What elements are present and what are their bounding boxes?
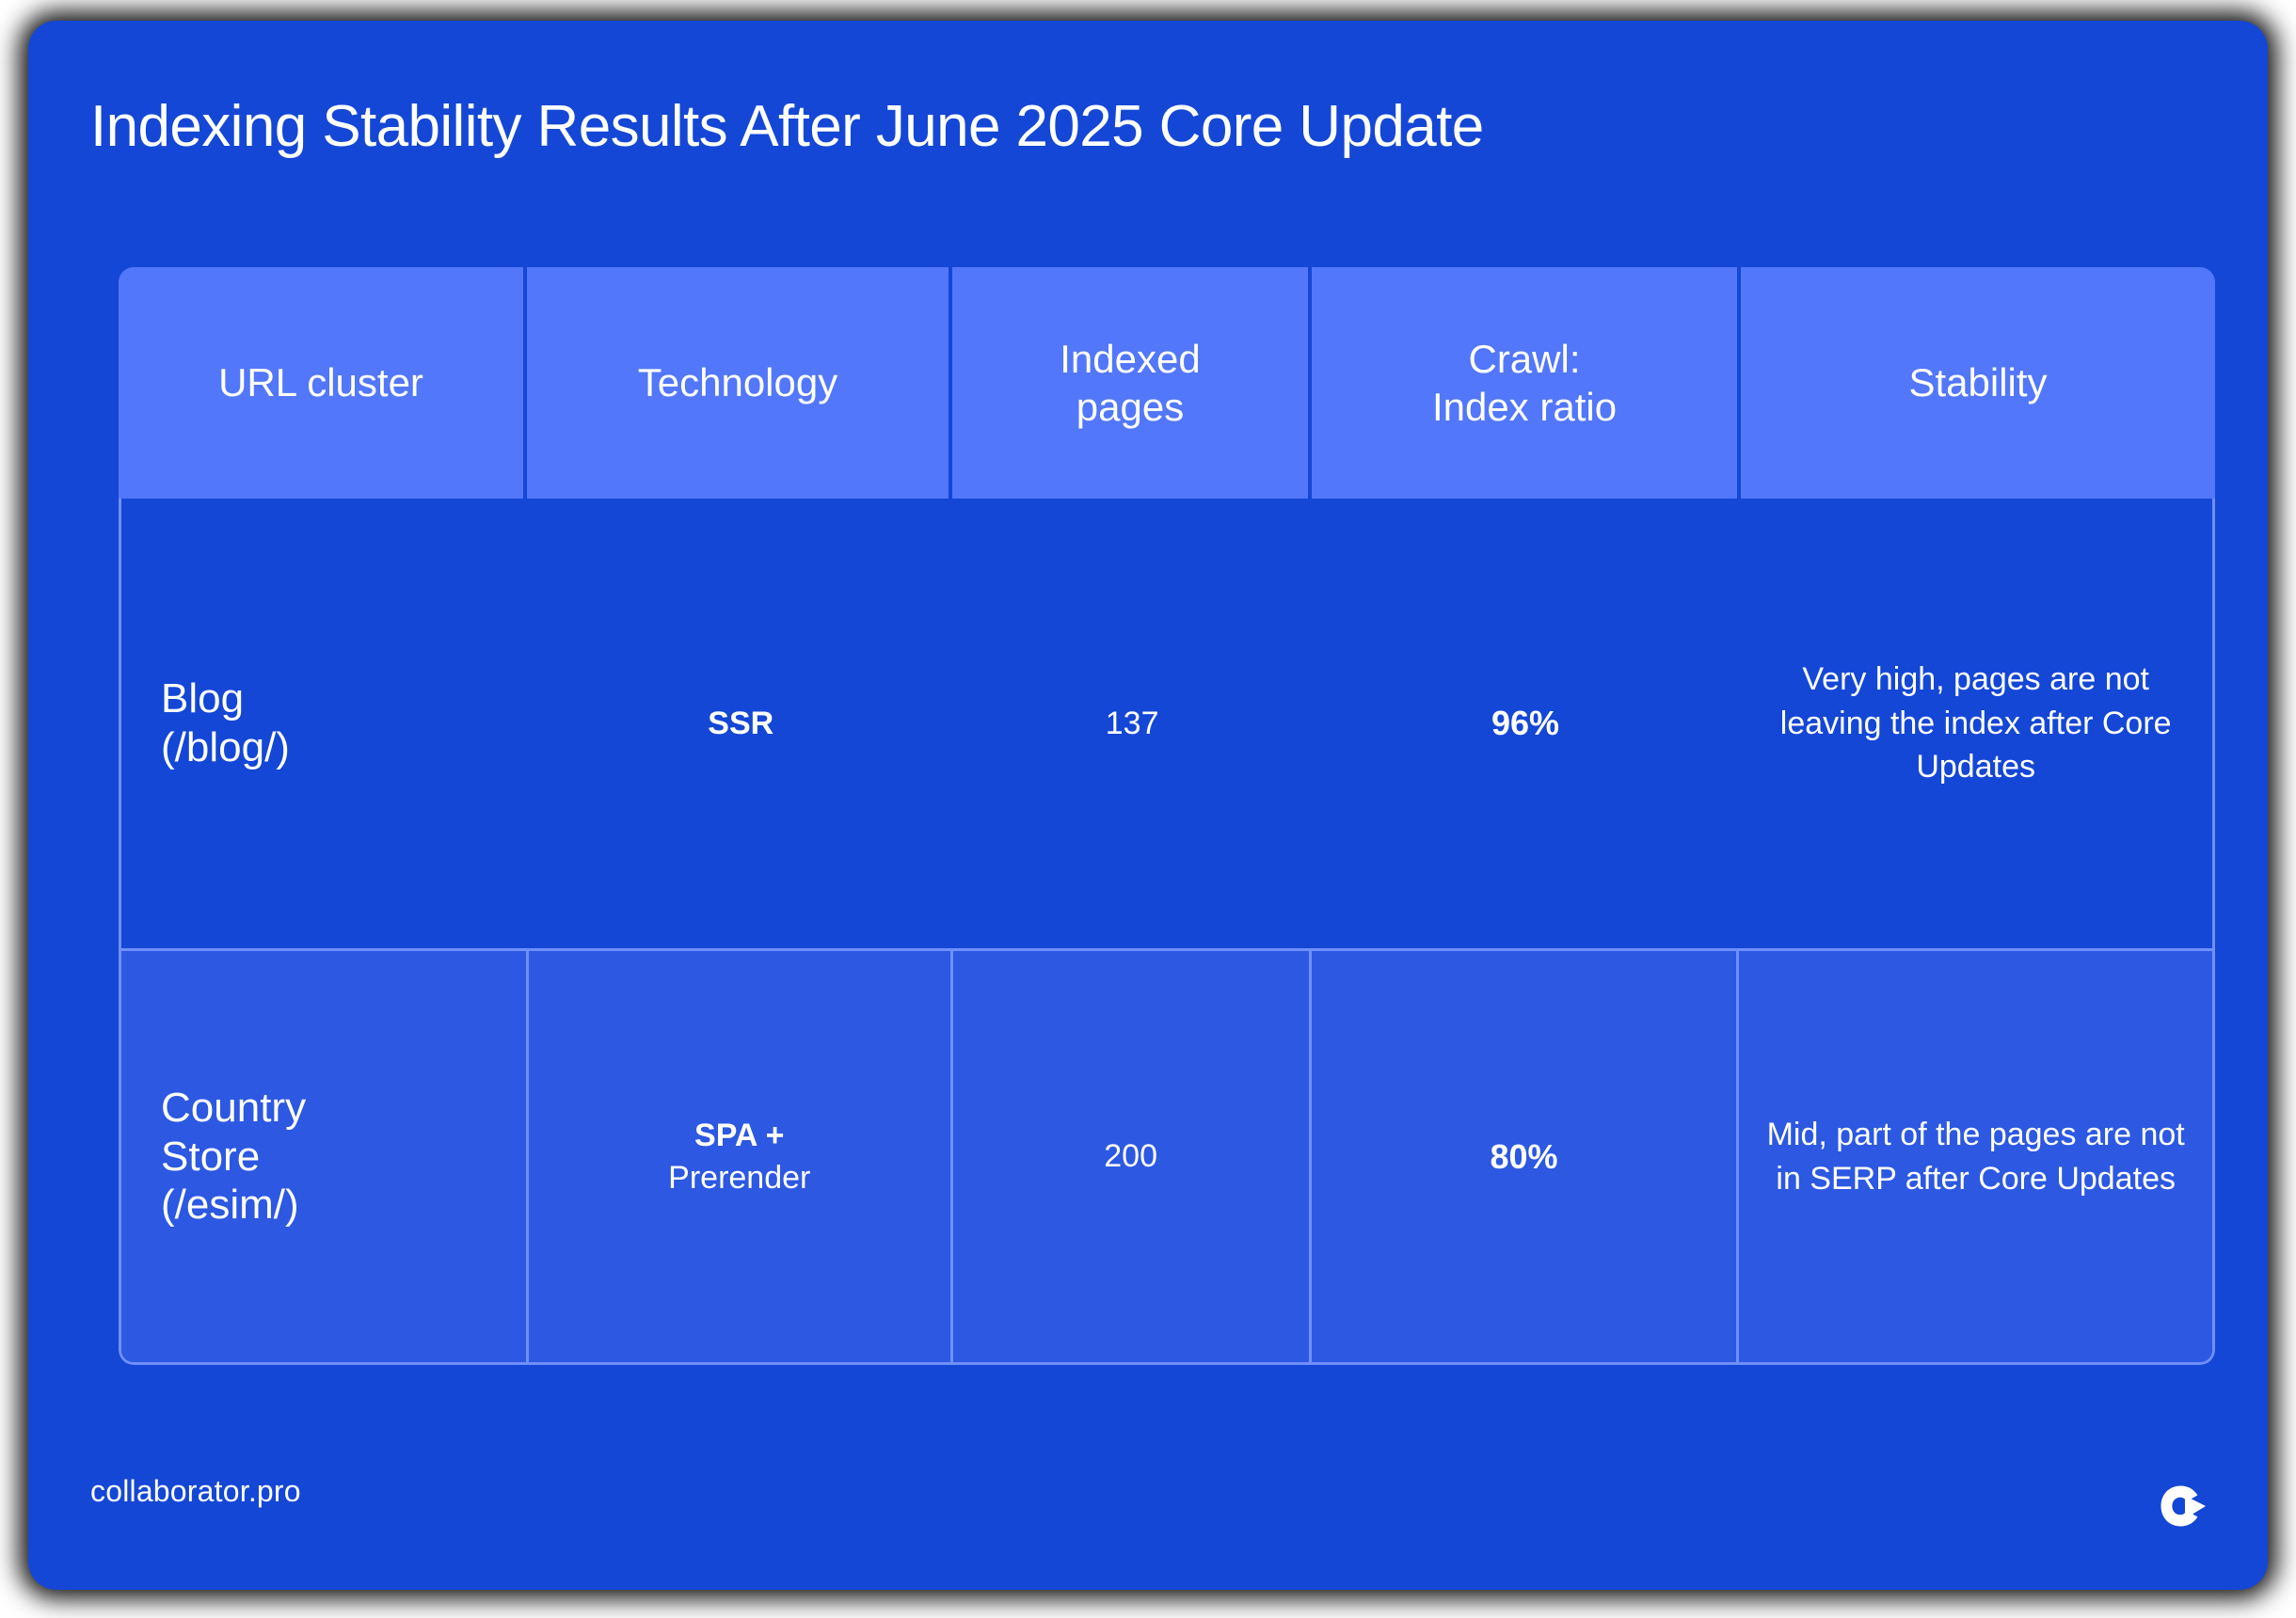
table-body: Blog (/blog/) SSR 137 96% Very high, pag… xyxy=(119,499,2215,1365)
technology-text: SPA + Prerender xyxy=(668,1115,810,1198)
url-cluster-text: Country Store (/esim/) xyxy=(161,1084,306,1230)
url-cluster-line-2: (/blog/) xyxy=(161,724,290,770)
indexed-pages-value: 137 xyxy=(1106,706,1159,742)
table-row: Country Store (/esim/) SPA + Prerender 2… xyxy=(121,948,2212,1362)
column-header-stability-label: Stability xyxy=(1908,358,2047,406)
indexed-pages-line-1: Indexed xyxy=(1060,337,1200,381)
table-row: Blog (/blog/) SSR 137 96% Very high, pag… xyxy=(121,499,2212,948)
technology-primary: SPA + xyxy=(694,1118,784,1153)
column-header-url-cluster: URL cluster xyxy=(119,267,527,499)
column-header-indexed-pages-label: Indexed pages xyxy=(1060,335,1200,431)
url-cluster-line-1: Blog xyxy=(161,675,244,722)
collaborator-logo-icon xyxy=(2157,1481,2209,1533)
footer-site-name: collaborator.pro xyxy=(90,1474,301,1509)
cell-indexed-pages: 137 xyxy=(953,499,1312,948)
url-cluster-text: Blog (/blog/) xyxy=(161,674,290,772)
indexed-pages-value: 200 xyxy=(1104,1138,1157,1175)
cell-url-cluster: Blog (/blog/) xyxy=(121,499,529,948)
column-header-technology: Technology xyxy=(527,267,952,499)
url-cluster-line-2: Store xyxy=(161,1134,260,1180)
cell-crawl-index-ratio: 80% xyxy=(1312,951,1740,1362)
cell-technology: SSR xyxy=(529,499,953,948)
column-header-crawl-index-ratio: Crawl: Index ratio xyxy=(1312,267,1741,499)
cell-stability: Very high, pages are not leaving the ind… xyxy=(1739,499,2212,948)
technology-primary: SSR xyxy=(708,706,773,741)
infographic-card: Indexing Stability Results After June 20… xyxy=(28,21,2268,1590)
cell-crawl-index-ratio: 96% xyxy=(1312,499,1740,948)
crawl-index-ratio-value: 80% xyxy=(1490,1137,1557,1177)
url-cluster-line-1: Country xyxy=(161,1085,306,1131)
indexed-pages-line-2: pages xyxy=(1076,385,1184,429)
url-cluster-line-3: (/esim/) xyxy=(161,1182,299,1228)
column-header-technology-label: Technology xyxy=(638,358,837,406)
results-table: URL cluster Technology Indexed pages Cra… xyxy=(119,267,2215,1365)
column-header-stability: Stability xyxy=(1741,267,2215,499)
technology-secondary: Prerender xyxy=(668,1160,810,1196)
cell-technology: SPA + Prerender xyxy=(529,951,953,1362)
technology-text: SSR xyxy=(708,703,773,744)
column-header-crawl-index-ratio-label: Crawl: Index ratio xyxy=(1432,335,1617,431)
table-header-row: URL cluster Technology Indexed pages Cra… xyxy=(119,267,2215,499)
cell-url-cluster: Country Store (/esim/) xyxy=(121,951,529,1362)
cell-stability: Mid, part of the pages are not in SERP a… xyxy=(1739,951,2212,1362)
column-header-url-cluster-label: URL cluster xyxy=(218,358,423,406)
stability-text: Very high, pages are not leaving the ind… xyxy=(1763,658,2188,790)
column-header-indexed-pages: Indexed pages xyxy=(952,267,1312,499)
stability-text: Mid, part of the pages are not in SERP a… xyxy=(1763,1113,2188,1201)
crawl-index-ratio-value: 96% xyxy=(1491,704,1559,743)
crawl-index-line-2: Index ratio xyxy=(1432,385,1617,429)
page-title: Indexing Stability Results After June 20… xyxy=(90,94,2208,159)
crawl-index-line-1: Crawl: xyxy=(1468,337,1580,381)
cell-indexed-pages: 200 xyxy=(953,951,1312,1362)
